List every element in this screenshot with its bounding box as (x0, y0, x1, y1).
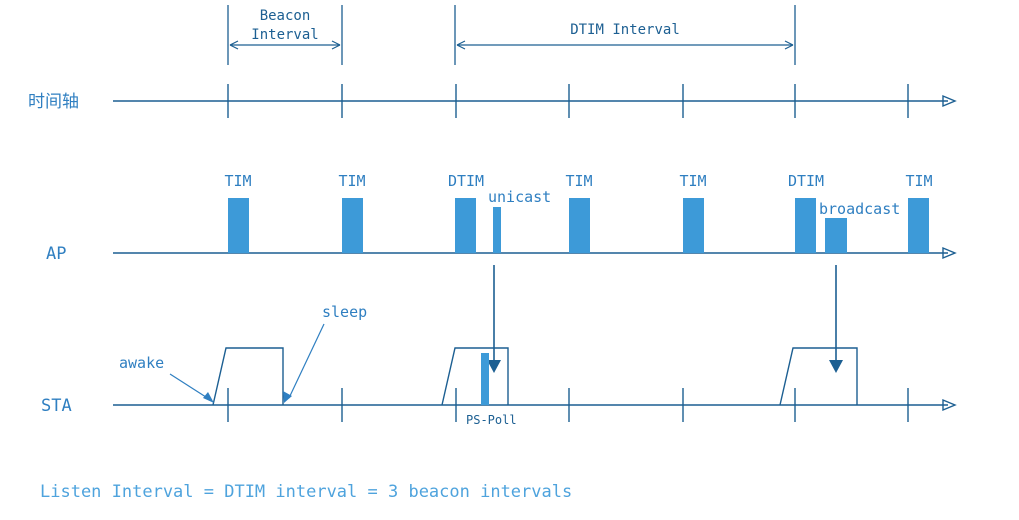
ap-frame-dtim-1-label: DTIM (448, 172, 484, 190)
ap-frame-tim-5 (908, 198, 929, 253)
beacon-interval-bracket: Beacon Interval (228, 5, 342, 65)
ap-frame-tim-3-label: TIM (565, 172, 592, 190)
ap-frame-dtim-2-label: DTIM (788, 172, 824, 190)
ap-frame-tim-1-label: TIM (224, 172, 251, 190)
sta-awake-window-1 (213, 348, 283, 405)
figure-caption: Listen Interval = DTIM interval = 3 beac… (40, 482, 572, 502)
ap-row: AP TIM TIM DTIM unicast TIM TIM DTIM bro… (46, 172, 955, 264)
ap-frame-tim-4 (683, 198, 704, 253)
sta-row: STA PS-Poll (41, 348, 955, 427)
ap-frame-dtim-1 (455, 198, 476, 253)
sta-awake-window-2 (442, 348, 508, 405)
timeline-row-label: 时间轴 (28, 92, 79, 112)
diagram-canvas: Beacon Interval DTIM Interval 时间轴 A (0, 0, 1019, 520)
ap-frame-tim-3 (569, 198, 590, 253)
sleep-annotation-label: sleep (322, 303, 367, 321)
awake-annotation: awake (119, 354, 214, 403)
beacon-interval-label-line2: Interval (251, 27, 318, 43)
awake-annotation-label: awake (119, 354, 164, 372)
sta-frame-ps-poll-label: PS-Poll (466, 413, 517, 427)
beacon-interval-label-line1: Beacon (260, 8, 311, 24)
ap-frame-tim-5-label: TIM (905, 172, 932, 190)
sleep-annotation: sleep (283, 303, 367, 403)
ap-frame-unicast (493, 207, 501, 253)
ap-frame-dtim-2 (795, 198, 816, 253)
ap-frame-tim-2 (342, 198, 363, 253)
ap-row-label: AP (46, 244, 66, 264)
dtim-interval-label: DTIM Interval (570, 22, 680, 38)
sta-awake-window-3 (780, 348, 857, 405)
ap-frame-tim-4-label: TIM (679, 172, 706, 190)
ap-frame-tim-2-label: TIM (338, 172, 365, 190)
timeline-row: 时间轴 (28, 84, 955, 118)
broadcast-delivery-arrow (829, 265, 843, 373)
sta-row-label: STA (41, 396, 72, 416)
ap-frame-broadcast (825, 218, 847, 253)
sta-frame-ps-poll (481, 353, 489, 405)
ap-frame-broadcast-label: broadcast (819, 200, 900, 218)
dtim-interval-bracket: DTIM Interval (455, 5, 795, 65)
power-save-timing-diagram: Beacon Interval DTIM Interval 时间轴 A (0, 0, 1019, 520)
unicast-delivery-arrow (487, 265, 501, 373)
ap-frame-tim-1 (228, 198, 249, 253)
ap-frame-unicast-label: unicast (488, 188, 551, 206)
